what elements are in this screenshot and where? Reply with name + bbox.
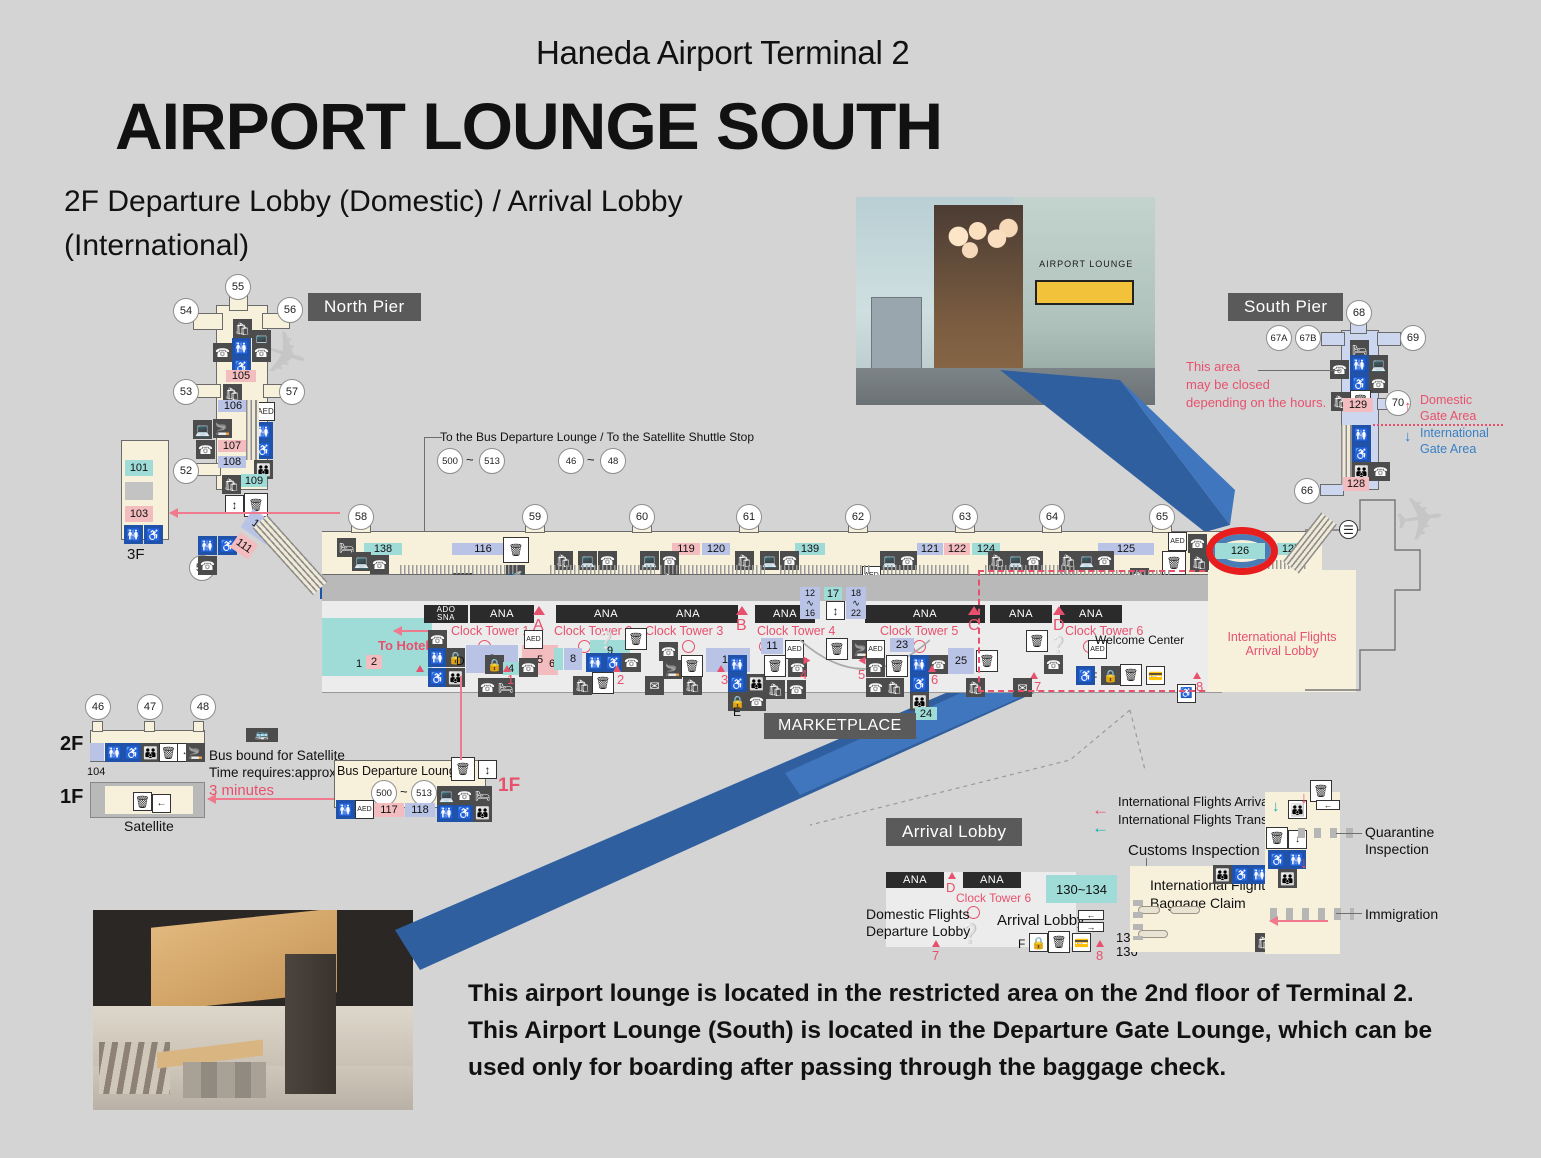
clock-icon xyxy=(682,640,695,653)
escalator-label-3: 3 xyxy=(721,672,728,687)
clock-tower-3-label: Clock Tower 3 xyxy=(645,624,723,638)
elevator-icon: 🗑 xyxy=(886,655,908,677)
bus-note-minutes: 3 minutes xyxy=(209,782,274,799)
closed-hours-note: This area may be closed depending on the… xyxy=(1186,358,1326,412)
hotel-direction-arrow xyxy=(170,512,340,514)
nursery-icon: 👪 xyxy=(141,743,160,762)
gate-53[interactable]: 53 xyxy=(173,379,199,405)
room-130-134[interactable]: 130~134 xyxy=(1046,875,1117,903)
room-103[interactable]: 103 xyxy=(125,506,153,522)
section-label-b: B xyxy=(736,617,747,635)
floor-description: 2F Departure Lobby (Domestic) / Arrival … xyxy=(64,180,844,268)
escalator-marker-7-arrival xyxy=(932,940,940,947)
arrivals-flow-arrow: ↓ xyxy=(1300,790,1308,808)
moving-walkway-icon: ← xyxy=(1316,800,1340,810)
quarantine-leader xyxy=(1336,833,1362,834)
computer-icon: 💻 xyxy=(1369,355,1388,374)
gate-46-note[interactable]: 46 xyxy=(558,448,584,474)
ana-bar-3: ANA xyxy=(638,605,738,623)
room-118[interactable]: 118 xyxy=(405,803,435,817)
elevator-icon: 🗑 xyxy=(1266,827,1288,849)
photo-sign-text: AIRPORT LOUNGE xyxy=(1035,259,1137,269)
phone-icon: ☎ xyxy=(252,343,271,362)
phone-icon: ☎ xyxy=(622,653,641,672)
tilde: ~ xyxy=(400,784,408,799)
unit-16: 16 xyxy=(805,608,815,618)
bus-route-arrow xyxy=(208,798,336,800)
restroom-icon: 🚻 xyxy=(198,536,217,555)
room-108[interactable]: 108 xyxy=(218,456,246,468)
gate-47[interactable]: 47 xyxy=(137,694,163,720)
restroom-icon: 🚻 xyxy=(728,655,747,674)
escalator-label-2: 2 xyxy=(617,672,624,687)
restroom-icon: 🚻 xyxy=(1350,355,1369,374)
nursery-icon: 👪 xyxy=(446,668,465,687)
poster-root: Haneda Airport Terminal 2 AIRPORT LOUNGE… xyxy=(0,0,1541,1158)
unit-18: 18 xyxy=(851,588,861,598)
gate-500[interactable]: 500 xyxy=(437,448,463,474)
phone-icon: ☎ xyxy=(866,658,885,677)
phone-icon: ☎ xyxy=(370,555,389,574)
locker-icon: 🔒 xyxy=(485,655,504,674)
escalator-marker-1 xyxy=(416,665,424,672)
accessible-restroom-icon: ♿ xyxy=(123,743,142,762)
unit-17[interactable]: 17 xyxy=(824,587,842,600)
elevator-icon: 🗑 xyxy=(451,757,475,781)
shop-icon: 🛍 xyxy=(683,676,702,695)
gate-63[interactable]: 63 xyxy=(952,504,978,530)
up-arrow-domestic: ↑ xyxy=(1404,398,1412,415)
shop-icon: 🛍 xyxy=(885,678,904,697)
gate-54[interactable]: 54 xyxy=(173,298,199,324)
gate-62[interactable]: 62 xyxy=(845,504,871,530)
accessible-restroom-icon: ♿ xyxy=(910,674,929,693)
section-label-f-arrival: F xyxy=(1018,937,1025,951)
section-marker-b xyxy=(736,606,748,615)
gate-68[interactable]: 68 xyxy=(1346,300,1372,326)
gate-513[interactable]: 513 xyxy=(479,448,505,474)
aed-icon: AED xyxy=(866,640,885,659)
escalator-label-6: 6 xyxy=(931,672,938,687)
unit-2[interactable]: 2 xyxy=(366,655,382,669)
accessible-restroom-icon: ♿ xyxy=(1352,444,1371,463)
escalator-label-5: 5 xyxy=(858,667,865,682)
phone-icon: ☎ xyxy=(747,692,766,711)
gate-55[interactable]: 55 xyxy=(225,274,251,300)
unit-7-block xyxy=(554,648,563,670)
lounge-description-caption: This airport lounge is located in the re… xyxy=(468,975,1468,1086)
gate-56[interactable]: 56 xyxy=(277,297,303,323)
gate-66[interactable]: 66 xyxy=(1294,478,1320,504)
restroom-icon: 🚻 xyxy=(1352,425,1371,444)
unit-23[interactable]: 23 xyxy=(890,638,914,652)
aed-icon: AED xyxy=(1168,532,1187,551)
room-120[interactable]: 120 xyxy=(702,543,730,555)
bus-icon: 🚌 xyxy=(246,728,278,742)
toilet-sign-icon: ↕ xyxy=(478,760,497,779)
phone-icon: ☎ xyxy=(213,343,232,362)
clock-tower-1-label: Clock Tower 1 xyxy=(451,624,529,638)
down-arrow-international: ↓ xyxy=(1404,428,1412,445)
range-tilde: ∿ xyxy=(806,598,814,608)
moving-walkway-icon: ← xyxy=(1078,910,1104,920)
phone-icon: ☎ xyxy=(866,678,885,697)
clock-tower-2-label: Clock Tower 2 xyxy=(554,624,632,638)
aed-icon: AED xyxy=(524,630,543,649)
railing xyxy=(550,565,655,574)
bus-lounge-label: Bus Departure Lounge xyxy=(337,764,463,778)
page-subtitle: Haneda Airport Terminal 2 xyxy=(536,34,909,72)
arrivals-flow-arrow: ↓ xyxy=(1300,855,1308,873)
elevator-icon: 🗑 xyxy=(1310,780,1332,802)
ado-sna-label: ADO SNA xyxy=(437,606,456,622)
toilet-sign-icon: ↕ xyxy=(826,601,845,620)
gate-59[interactable]: 59 xyxy=(522,504,548,530)
elevator-icon: 🗑 xyxy=(826,638,848,660)
accessible-restroom-icon: ♿ xyxy=(1232,865,1251,884)
room-105[interactable]: 105 xyxy=(226,370,256,382)
shop-icon: 🛍 xyxy=(222,475,241,494)
shop-icon: 🛍 xyxy=(766,680,785,699)
gate-64[interactable]: 64 xyxy=(1039,504,1065,530)
phone-icon: ☎ xyxy=(198,556,217,575)
customs-inspection-label: Customs Inspection xyxy=(1128,842,1260,859)
transfer-flow-arrow: ↓ xyxy=(1272,798,1280,815)
satellite-floor-1f: 1F xyxy=(60,786,83,809)
escalator-north-link xyxy=(252,515,327,595)
gate-48[interactable]: 48 xyxy=(190,694,216,720)
room-129[interactable]: 129 xyxy=(1343,398,1373,412)
nursery-icon: 👪 xyxy=(1278,869,1297,888)
gate-48-note[interactable]: 48 xyxy=(600,448,626,474)
unit-12-16[interactable]: 12 ∿ 16 xyxy=(800,587,820,619)
nursery-icon: 👪 xyxy=(1213,865,1232,884)
unit-8[interactable]: 8 xyxy=(564,648,582,670)
elevator-icon: 🗑 xyxy=(592,672,614,694)
escalator-label-7-arrival: 7 xyxy=(932,948,939,963)
range-tilde: ∿ xyxy=(852,598,860,608)
phone-icon: ☎ xyxy=(519,658,538,677)
clock-tower-5-label: Clock Tower 5 xyxy=(880,624,958,638)
aircraft-silhouette-south: ✈ xyxy=(1391,487,1449,553)
smoking-icon: 🚬 xyxy=(186,743,205,762)
escalator-marker-d xyxy=(948,872,956,879)
gate-60[interactable]: 60 xyxy=(629,504,655,530)
unit-11[interactable]: 11 xyxy=(761,638,783,654)
baggage-cart-icon: 🛏 xyxy=(473,786,492,805)
room-139[interactable]: 139 xyxy=(795,543,825,555)
tilde: ~ xyxy=(587,452,595,467)
south-pier-arm-67 xyxy=(1321,332,1345,346)
elevator-icon: 🗑 xyxy=(159,743,178,762)
south-pier-arm-69 xyxy=(1377,332,1401,346)
ado-sna-bar: ADO SNA xyxy=(424,605,468,623)
railing xyxy=(400,565,518,574)
domestic-departure-lobby-label: Domestic Flights Departure Lobby xyxy=(866,906,970,940)
section-label-d-arrival: D xyxy=(946,880,955,895)
immigration-leader xyxy=(1336,913,1362,914)
phone-icon: ☎ xyxy=(1369,374,1388,393)
quarantine-inspection-label: Quarantine Inspection xyxy=(1365,824,1434,858)
section-label-e: E xyxy=(733,705,741,719)
escalator xyxy=(246,400,259,460)
clock-tower-4-label: Clock Tower 4 xyxy=(757,624,835,638)
page-title: AIRPORT LOUNGE SOUTH xyxy=(115,88,942,164)
info-icon[interactable]: ❔ xyxy=(597,631,616,650)
satellite-stub-48 xyxy=(193,721,204,732)
escalator-marker-4 xyxy=(804,657,811,665)
shop-icon: 🛍 xyxy=(233,319,252,338)
annex-floor-label: 3F xyxy=(127,546,145,563)
restroom-icon: 🚻 xyxy=(105,743,124,762)
elevator-icon: 🗑 xyxy=(503,537,529,563)
room-128[interactable]: 128 xyxy=(1343,477,1369,491)
escalator-label-4: 4 xyxy=(800,667,807,682)
bus-note-line2: Time requires:approx. xyxy=(209,765,340,780)
immigration-label: Immigration xyxy=(1365,906,1438,922)
moving-walkway-icon: ← xyxy=(152,794,171,813)
gate-67A[interactable]: 67A xyxy=(1266,325,1292,351)
gate-57[interactable]: 57 xyxy=(279,379,305,405)
section-marker-a xyxy=(533,606,545,615)
locker-icon: 🔒 xyxy=(1029,933,1048,952)
satellite-floor-2f: 2F xyxy=(60,733,83,756)
gate-67B[interactable]: 67B xyxy=(1295,325,1321,351)
phone-icon: ☎ xyxy=(659,642,678,661)
unit-25[interactable]: 25 xyxy=(948,648,974,674)
south-pier-arm-66 xyxy=(1320,484,1344,496)
room-104-block xyxy=(90,743,104,761)
room-117[interactable]: 117 xyxy=(374,803,404,817)
room-109[interactable]: 109 xyxy=(241,474,267,487)
international-gate-area-label: International Gate Area xyxy=(1420,425,1489,457)
bus-departure-note: To the Bus Departure Lounge / To the Sat… xyxy=(440,430,754,444)
restroom-icon: 🚻 xyxy=(232,338,251,357)
gate-61[interactable]: 61 xyxy=(736,504,762,530)
satellite-stub-47 xyxy=(144,721,155,732)
section-label-d-unit: D xyxy=(456,654,465,668)
arrivals-flow-arrow-left xyxy=(1270,920,1328,922)
moving-walkway-icon: → xyxy=(1078,922,1104,932)
room-101[interactable]: 101 xyxy=(125,460,153,476)
domestic-gate-area-label: Domestic Gate Area xyxy=(1420,392,1476,424)
railing xyxy=(780,565,870,574)
gate-46[interactable]: 46 xyxy=(85,694,111,720)
arrival-lobby-guide xyxy=(800,700,1160,830)
gate-58[interactable]: 58 xyxy=(348,504,374,530)
escalator-marker-3 xyxy=(717,665,725,672)
accessible-restroom-icon: ♿ xyxy=(455,803,474,822)
gate-65[interactable]: 65 xyxy=(1149,504,1175,530)
phone-icon: ☎ xyxy=(1371,462,1390,481)
escalator-marker-2 xyxy=(613,665,621,672)
restroom-icon: 🚻 xyxy=(586,653,605,672)
accessible-restroom-icon: ♿ xyxy=(144,525,163,544)
railing xyxy=(883,565,971,574)
smoking-icon: 🚬 xyxy=(213,419,232,438)
computer-icon: 💻 xyxy=(1077,551,1096,570)
room-121[interactable]: 121 xyxy=(917,543,943,555)
satellite-label: Satellite xyxy=(124,818,174,834)
tilde: ~ xyxy=(466,452,474,467)
escalator-marker-1b xyxy=(503,665,511,672)
arrival-clock-tower-6: Clock Tower 6 xyxy=(956,891,1031,905)
room-106[interactable]: 106 xyxy=(218,400,248,412)
atm-icon: 💳 xyxy=(1072,933,1091,952)
restroom-icon: 🚻 xyxy=(437,803,456,822)
unit-22: 22 xyxy=(851,608,861,618)
gate-69[interactable]: 69 xyxy=(1400,325,1426,351)
restroom-icon: 🚻 xyxy=(124,525,143,544)
annex-grey-room xyxy=(125,482,153,500)
accessible-restroom-icon: ♿ xyxy=(428,668,447,687)
restroom-icon: 🚻 xyxy=(910,655,929,674)
gate-52[interactable]: 52 xyxy=(173,458,199,484)
lounge-interior-photo xyxy=(93,910,413,1110)
computer-icon: 💻 xyxy=(437,786,456,805)
railing xyxy=(660,565,765,574)
room-104-label: 104 xyxy=(87,766,105,778)
bus-note-leader-h xyxy=(424,437,442,438)
restroom-icon: 🚻 xyxy=(336,800,355,819)
computer-icon: 💻 xyxy=(193,420,212,439)
escalator-label-8-arrival: 8 xyxy=(1096,948,1103,963)
bus-note-line1: Bus bound for Satellite xyxy=(209,748,345,763)
phone-icon: ☎ xyxy=(196,440,215,459)
elevator-icon: 🗑 xyxy=(681,655,703,677)
phone-icon: ☎ xyxy=(428,630,447,649)
lounge-highlight-outer xyxy=(1206,527,1278,575)
phone-icon: ☎ xyxy=(1188,534,1207,553)
escalator-label-1: 1 xyxy=(507,672,514,687)
north-pier-label: North Pier xyxy=(308,293,421,321)
phone-icon: ☎ xyxy=(478,678,497,697)
room-107[interactable]: 107 xyxy=(218,440,246,452)
accessible-restroom-icon: ♿ xyxy=(728,674,747,693)
shop-icon: 🛍 xyxy=(573,676,592,695)
escalator-marker-8-arrival xyxy=(1096,940,1104,947)
info-icon[interactable]: ❔ xyxy=(961,925,980,944)
elevator-icon: 🗑 xyxy=(625,628,647,650)
phone-icon: ☎ xyxy=(455,786,474,805)
mail-icon: ✉ xyxy=(645,676,664,695)
computer-icon: 💻 xyxy=(352,552,371,571)
circular-feature-icon: ☰ xyxy=(1339,520,1358,539)
arrival-ana-bar-1: ANA xyxy=(886,872,944,888)
smoking-icon: 🚬 xyxy=(663,660,682,679)
ana-bar-1: ANA xyxy=(470,605,534,623)
ana-bar-5: ANA xyxy=(865,605,985,623)
south-pier-label: South Pier xyxy=(1228,293,1343,321)
nursery-icon: 👪 xyxy=(473,803,492,822)
customs-gates xyxy=(1133,900,1143,940)
arrival-ana-bar-2: ANA xyxy=(963,872,1021,888)
closed-note-leader xyxy=(1258,370,1340,371)
accessible-restroom-icon: ♿ xyxy=(1268,850,1287,869)
unit-18-22[interactable]: 18 ∿ 22 xyxy=(846,587,866,619)
restroom-icon: 🚻 xyxy=(428,648,447,667)
phone-icon: ☎ xyxy=(1095,551,1114,570)
bus-lounge-connector xyxy=(460,676,462,760)
arrival-lobby-inner-label: Arrival Lobby xyxy=(997,912,1085,929)
elevator-icon: 🗑 xyxy=(133,792,152,811)
satellite-stub-46 xyxy=(92,721,103,732)
escalator-marker-5 xyxy=(859,657,866,665)
room-122[interactable]: 122 xyxy=(944,543,970,555)
unit-12: 12 xyxy=(805,588,815,598)
unit-1[interactable]: 1 xyxy=(356,658,362,670)
baggage-belt xyxy=(1170,906,1200,914)
elevator-icon: 🗑 xyxy=(764,655,786,677)
escalator-marker-6 xyxy=(928,665,936,672)
aed-icon: AED xyxy=(355,800,374,819)
elevator-icon: 🗑 xyxy=(1048,931,1070,953)
bus-lounge-floor-1f: 1F xyxy=(498,775,520,797)
